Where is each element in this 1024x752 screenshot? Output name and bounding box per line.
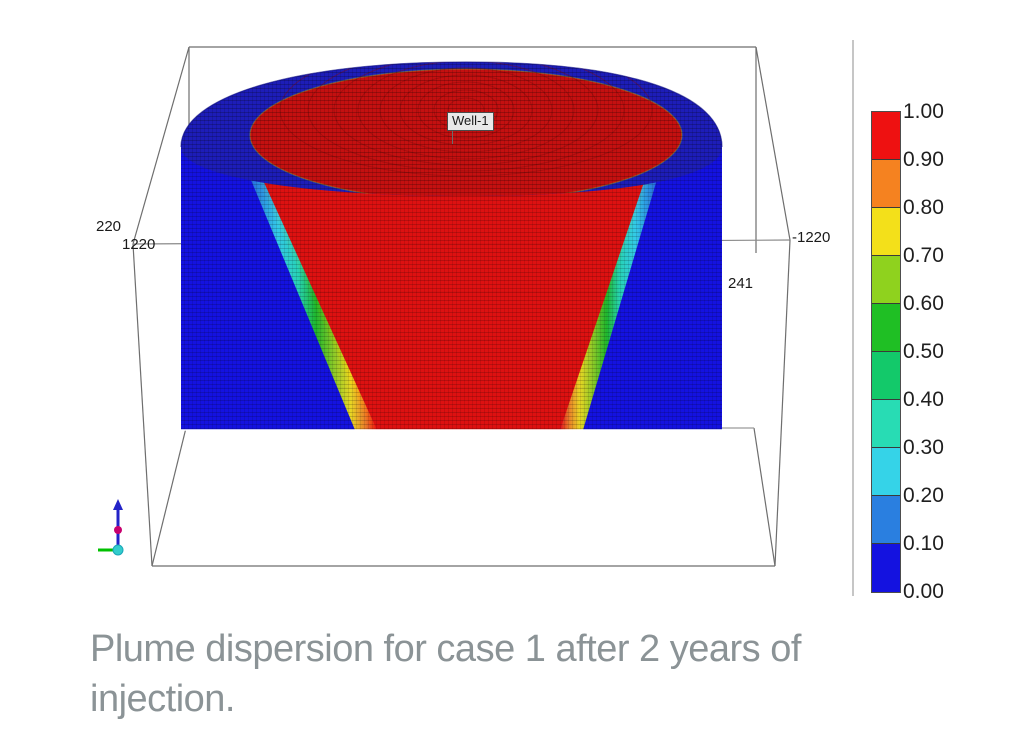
triad-y-axis xyxy=(114,526,122,534)
well-marker-stem xyxy=(452,130,453,144)
panel-divider xyxy=(852,40,854,596)
colorbar-tick-0.20: 0.20 xyxy=(903,485,944,506)
colorbar-tick-0.10: 0.10 xyxy=(903,533,944,554)
axis-label-top-left: 220 xyxy=(96,218,121,235)
well-label[interactable]: Well-1 xyxy=(447,112,494,131)
colorbar-band-0.90-1.00 xyxy=(872,112,900,160)
colorbar-band-0.70-0.80 xyxy=(872,208,900,256)
axis-label-left: 1220 xyxy=(122,236,155,253)
colorbar-tick-0.40: 0.40 xyxy=(903,389,944,410)
colorbar-band-0.50-0.60 xyxy=(872,304,900,352)
colorbar-tick-0.00: 0.00 xyxy=(903,581,944,602)
colorbar-band-0.60-0.70 xyxy=(872,256,900,304)
colorbar-band-0.80-0.90 xyxy=(872,160,900,208)
colorbar-tick-0.70: 0.70 xyxy=(903,245,944,266)
colorbar-band-0.30-0.40 xyxy=(872,400,900,448)
figure-caption: Plume dispersion for case 1 after 2 year… xyxy=(90,624,880,724)
colorbar-band-0.00-0.10 xyxy=(872,544,900,592)
axis-triad-icon[interactable] xyxy=(96,495,146,559)
colorbar-band-0.20-0.30 xyxy=(872,448,900,496)
colorbar-tick-0.50: 0.50 xyxy=(903,341,944,362)
colorbar[interactable]: 1.000.900.800.700.600.500.400.300.200.10… xyxy=(871,111,901,593)
colorbar-tick-0.80: 0.80 xyxy=(903,197,944,218)
colorbar-tick-0.60: 0.60 xyxy=(903,293,944,314)
colorbar-tick-0.90: 0.90 xyxy=(903,149,944,170)
axis-label-right: -1220 xyxy=(792,229,830,246)
colorbar-tick-0.30: 0.30 xyxy=(903,437,944,458)
colorbar-tick-1.00: 1.00 xyxy=(903,101,944,122)
triad-z-arrow xyxy=(113,499,123,510)
axis-label-right-inner: 241 xyxy=(728,275,753,292)
figure-page: Well-1 220 1220 -1220 241 1.000.900.800.… xyxy=(0,0,1024,752)
colorbar-band-0.40-0.50 xyxy=(872,352,900,400)
colorbar-band-0.10-0.20 xyxy=(872,496,900,544)
triad-origin xyxy=(113,545,123,555)
colorbar-gradient xyxy=(871,111,901,593)
